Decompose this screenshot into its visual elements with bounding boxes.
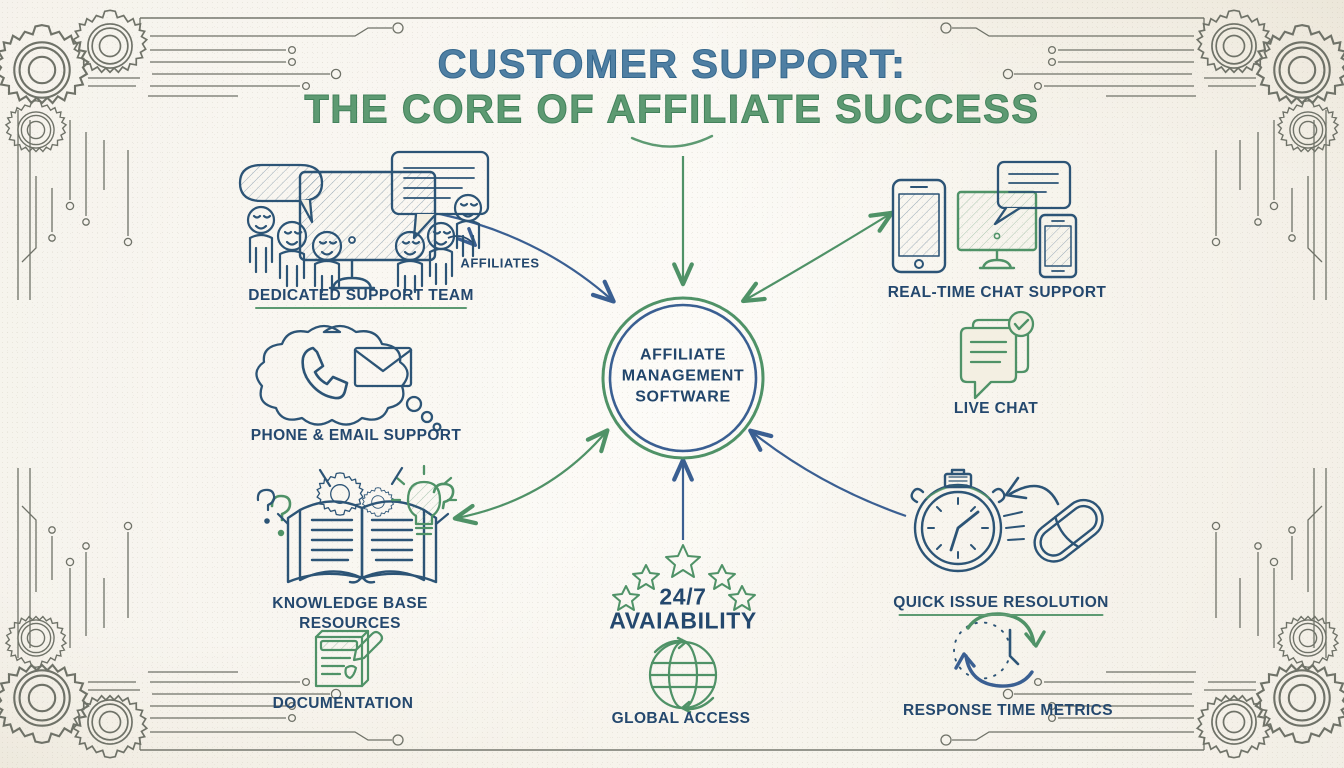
node-label-global-access[interactable]: GLOBAL ACCESS [612,710,751,728]
center-label-line-2: MANAGEMENT [622,367,744,386]
node-label-availability-line-1[interactable]: 24/7 [659,585,706,610]
node-label-knowledge-base-line-1[interactable]: KNOWLEDGE BASE [272,595,427,613]
underline-quick-issue-resolution [899,614,1104,616]
title-line-1: CUSTOMER SUPPORT: [438,43,907,88]
center-label-line-1: AFFILIATE [640,346,726,365]
node-label-phone-email-support[interactable]: PHONE & EMAIL SUPPORT [251,427,462,445]
node-label-documentation[interactable]: DOCUMENTATION [273,695,414,713]
title-line-2: THE CORE OF AFFILIATE SUCCESS [304,88,1039,133]
node-label-live-chat[interactable]: LIVE CHAT [954,400,1038,418]
node-label-response-time-metrics[interactable]: RESPONSE TIME METRICS [903,702,1113,720]
affiliates-label: AFFILIATES [460,256,539,271]
underline-dedicated-support-team [255,307,467,309]
node-label-knowledge-base-line-2[interactable]: RESOURCES [299,615,401,633]
node-label-dedicated-support-team[interactable]: DEDICATED SUPPORT TEAM [248,287,474,305]
node-label-real-time-chat-support[interactable]: REAL-TIME CHAT SUPPORT [888,284,1107,302]
text-layer: CUSTOMER SUPPORT: THE CORE OF AFFILIATE … [0,0,1344,768]
node-label-availability-line-2[interactable]: AVAIABILITY [609,609,757,634]
center-label-line-3: SOFTWARE [635,388,730,407]
node-label-quick-issue-resolution[interactable]: QUICK ISSUE RESOLUTION [893,594,1108,612]
